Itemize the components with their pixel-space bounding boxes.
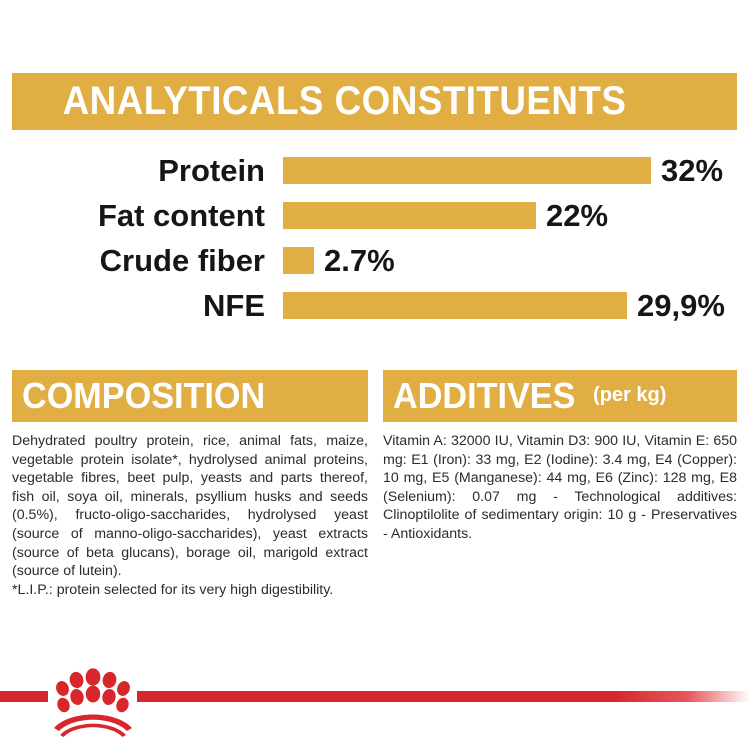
- footer-rule-left: [0, 691, 48, 702]
- chart-row-protein: Protein 32%: [0, 148, 750, 193]
- bar-label-fat-content: Fat content: [0, 193, 265, 238]
- additives-panel: ADDITIVES (per kg) Vitamin A: 32000 IU, …: [383, 370, 737, 544]
- bar-track-fat-content: 22%: [283, 193, 743, 238]
- bar-track-protein: 32%: [283, 148, 743, 193]
- composition-body: Dehydrated poultry protein, rice, animal…: [12, 432, 368, 599]
- analyticals-bar-chart: Protein 32% Fat content 22% Crude fiber …: [0, 148, 750, 338]
- footer-rule-right: [137, 691, 750, 702]
- composition-header-bar: COMPOSITION: [12, 370, 368, 422]
- chart-row-nfe: NFE 29,9%: [0, 283, 750, 328]
- page-title: ANALYTICALS CONSTITUENTS: [12, 79, 626, 124]
- additives-text: Vitamin A: 32000 IU, Vitamin D3: 900 IU,…: [383, 432, 737, 544]
- chart-row-fat-content: Fat content 22%: [0, 193, 750, 238]
- additives-header-bar: ADDITIVES (per kg): [383, 370, 737, 422]
- bar-label-protein: Protein: [0, 148, 265, 193]
- bar-fill-fat-content: [283, 202, 536, 229]
- chart-row-crude-fiber: Crude fiber 2.7%: [0, 238, 750, 283]
- additives-heading: ADDITIVES: [393, 375, 575, 417]
- bar-fill-protein: [283, 157, 651, 184]
- analyticals-header-bar: ANALYTICALS CONSTITUENTS: [12, 73, 737, 130]
- bar-track-nfe: 29,9%: [283, 283, 743, 328]
- composition-heading: COMPOSITION: [22, 375, 265, 417]
- additives-body: Vitamin A: 32000 IU, Vitamin D3: 900 IU,…: [383, 432, 737, 544]
- bar-fill-crude-fiber: [283, 247, 314, 274]
- bar-fill-nfe: [283, 292, 627, 319]
- additives-heading-suffix: (per kg): [593, 384, 666, 407]
- brand-footer: [0, 660, 750, 750]
- bar-track-crude-fiber: 2.7%: [283, 238, 743, 283]
- composition-text: Dehydrated poultry protein, rice, animal…: [12, 432, 368, 581]
- bar-value-fat-content: 22%: [546, 193, 608, 238]
- composition-footnote: *L.I.P.: protein selected for its very h…: [12, 581, 368, 600]
- bar-value-crude-fiber: 2.7%: [324, 238, 395, 283]
- composition-panel: COMPOSITION Dehydrated poultry protein, …: [12, 370, 368, 599]
- bar-value-nfe: 29,9%: [637, 283, 725, 328]
- nutrition-info-panel: ANALYTICALS CONSTITUENTS Protein 32% Fat…: [0, 0, 750, 750]
- royal-canin-crown-icon: [48, 660, 138, 740]
- bar-label-crude-fiber: Crude fiber: [0, 238, 265, 283]
- bar-value-protein: 32%: [661, 148, 723, 193]
- bar-label-nfe: NFE: [0, 283, 265, 328]
